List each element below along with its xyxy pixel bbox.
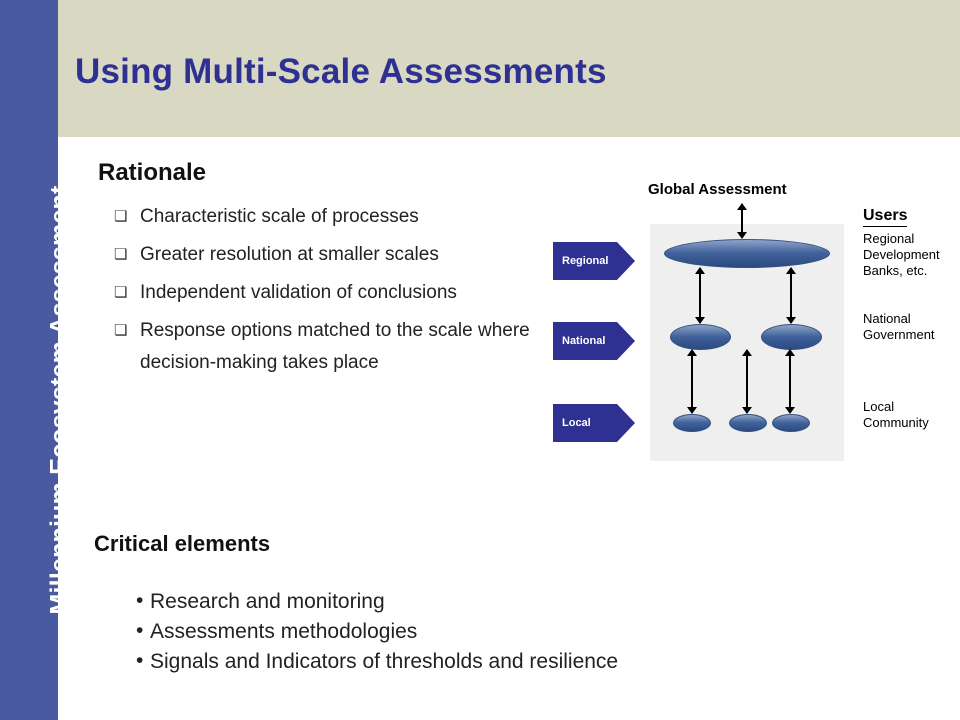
list-item: ❏ Characteristic scale of processes: [114, 201, 584, 233]
rationale-bullet-list: ❏ Characteristic scale of processes ❏ Gr…: [114, 201, 584, 385]
users-heading: Users: [863, 207, 907, 227]
scale-tag-local: Local: [553, 404, 635, 442]
arrow-global-national-1-icon: [699, 273, 701, 318]
sidebar-band: Millennium Ecosystem Assessment: [0, 0, 58, 720]
list-item: ❏ Greater resolution at smaller scales: [114, 239, 584, 271]
list-item-label: Research and monitoring: [150, 590, 385, 613]
list-item: • Research and monitoring: [136, 587, 618, 617]
node-local-2: [729, 414, 767, 432]
multi-scale-diagram: Global Assessment Regional National Loca…: [533, 169, 953, 509]
bullet-dot-icon: •: [136, 616, 143, 646]
arrow-global-up-icon: [741, 209, 743, 233]
users-entry-local: Local Community: [863, 399, 929, 431]
diagram-global-label: Global Assessment: [648, 181, 787, 198]
bullet-marker-icon: ❏: [114, 239, 127, 271]
node-local-3: [772, 414, 810, 432]
scale-tag-national: National: [553, 322, 635, 360]
scale-tag-regional: Regional: [553, 242, 635, 280]
arrow-national-local-2-icon: [746, 355, 748, 408]
bullet-dot-icon: •: [136, 586, 143, 616]
arrow-global-national-2-icon: [790, 273, 792, 318]
list-item: ❏ Independent validation of conclusions: [114, 277, 584, 309]
users-entry-regional: Regional Development Banks, etc.: [863, 231, 940, 279]
bullet-marker-icon: ❏: [114, 315, 127, 347]
bullet-dot-icon: •: [136, 646, 143, 676]
arrow-national-local-3-icon: [789, 355, 791, 408]
list-item-label: Response options matched to the scale wh…: [140, 320, 530, 373]
users-entry-national: National Government: [863, 311, 935, 343]
node-national-1: [670, 324, 731, 350]
rationale-heading: Rationale: [98, 159, 206, 187]
arrow-national-local-1-icon: [691, 355, 693, 408]
critical-elements-heading: Critical elements: [94, 531, 270, 557]
critical-elements-list: • Research and monitoring • Assessments …: [136, 587, 618, 677]
list-item: ❏ Response options matched to the scale …: [114, 315, 584, 379]
node-local-1: [673, 414, 711, 432]
list-item-label: Assessments methodologies: [150, 620, 417, 643]
slide-content: Rationale ❏ Characteristic scale of proc…: [58, 139, 960, 720]
list-item: • Assessments methodologies: [136, 617, 618, 647]
list-item-label: Signals and Indicators of thresholds and…: [150, 650, 618, 673]
node-global-assessment: [664, 239, 830, 268]
node-national-2: [761, 324, 822, 350]
list-item-label: Greater resolution at smaller scales: [140, 244, 439, 265]
list-item-label: Independent validation of conclusions: [140, 282, 457, 303]
page-title: Using Multi-Scale Assessments: [75, 52, 607, 92]
bullet-marker-icon: ❏: [114, 277, 127, 309]
bullet-marker-icon: ❏: [114, 201, 127, 233]
list-item-label: Characteristic scale of processes: [140, 206, 419, 227]
list-item: • Signals and Indicators of thresholds a…: [136, 647, 618, 677]
